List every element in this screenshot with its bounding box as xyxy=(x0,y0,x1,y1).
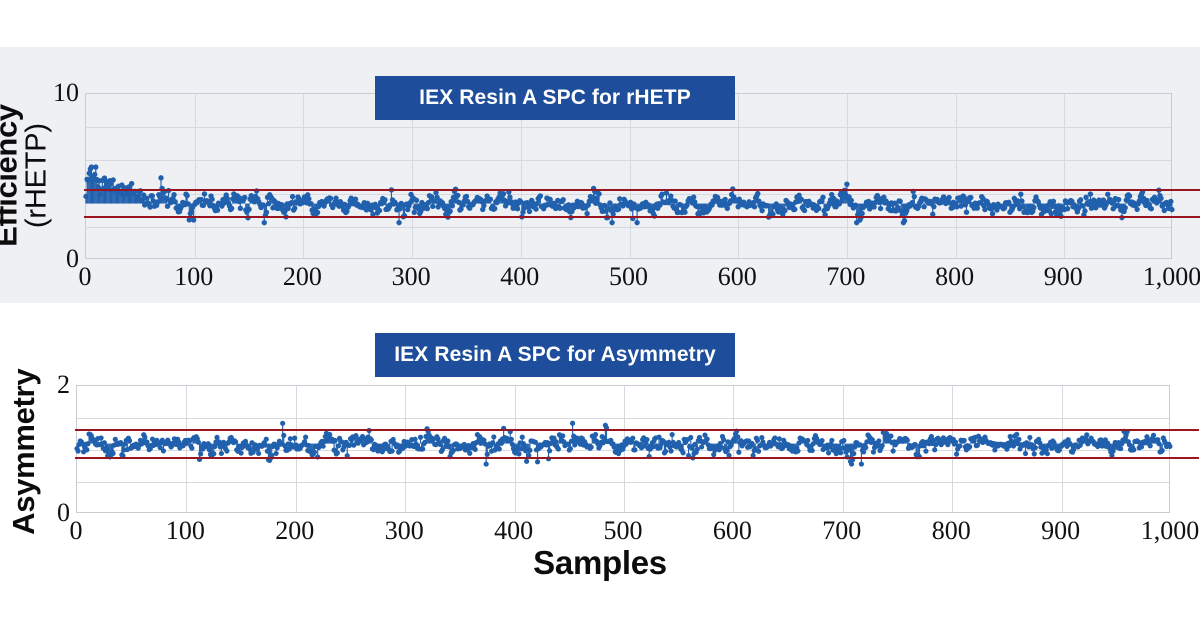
bottom-chart-title: IEX Resin A SPC for Asymmetry xyxy=(375,333,735,377)
lower-control-limit-line xyxy=(75,457,1199,459)
x-tick-label: 300 xyxy=(385,516,424,546)
top-chart-title: IEX Resin A SPC for rHETP xyxy=(375,76,735,120)
x-tick-label: 300 xyxy=(392,262,431,292)
top-y-axis-title-line2: (rHETP) xyxy=(22,81,52,271)
x-tick-label: 700 xyxy=(826,262,865,292)
x-tick-label: 400 xyxy=(500,262,539,292)
lower-control-limit-line xyxy=(84,216,1200,218)
x-tick-label: 0 xyxy=(70,516,83,546)
bottom-series xyxy=(77,386,1171,514)
y-tick-label: 2 xyxy=(36,370,70,400)
x-tick-label: 800 xyxy=(935,262,974,292)
x-tick-label: 600 xyxy=(718,262,757,292)
x-tick-label: 0 xyxy=(79,262,92,292)
x-axis-title: Samples xyxy=(533,544,667,582)
x-tick-label: 100 xyxy=(166,516,205,546)
x-tick-label: 600 xyxy=(713,516,752,546)
x-tick-label: 500 xyxy=(604,516,643,546)
x-tick-label: 1,000 xyxy=(1141,516,1200,546)
x-tick-label: 400 xyxy=(494,516,533,546)
upper-control-limit-line xyxy=(75,429,1199,431)
upper-control-limit-line xyxy=(84,189,1200,191)
x-tick-label: 200 xyxy=(275,516,314,546)
x-tick-label: 800 xyxy=(932,516,971,546)
top-y-axis-title-line1: Efficiency xyxy=(0,81,22,271)
bottom-chart xyxy=(76,385,1170,513)
x-tick-label: 500 xyxy=(609,262,648,292)
y-tick-label: 0 xyxy=(36,498,70,528)
spc-figure: Efficiency (rHETP) 010 01002003004005006… xyxy=(0,0,1200,630)
x-tick-label: 200 xyxy=(283,262,322,292)
x-tick-label: 900 xyxy=(1044,262,1083,292)
x-tick-label: 900 xyxy=(1041,516,1080,546)
y-tick-label: 0 xyxy=(45,244,79,274)
x-tick-label: 1,000 xyxy=(1143,262,1200,292)
x-tick-label: 100 xyxy=(174,262,213,292)
top-y-axis-title: Efficiency (rHETP) xyxy=(0,81,52,271)
y-tick-label: 10 xyxy=(45,78,79,108)
x-tick-label: 700 xyxy=(822,516,861,546)
top-x-tick-labels: 01002003004005006007008009001,000 xyxy=(85,262,1172,302)
bottom-plot-area xyxy=(76,385,1170,513)
